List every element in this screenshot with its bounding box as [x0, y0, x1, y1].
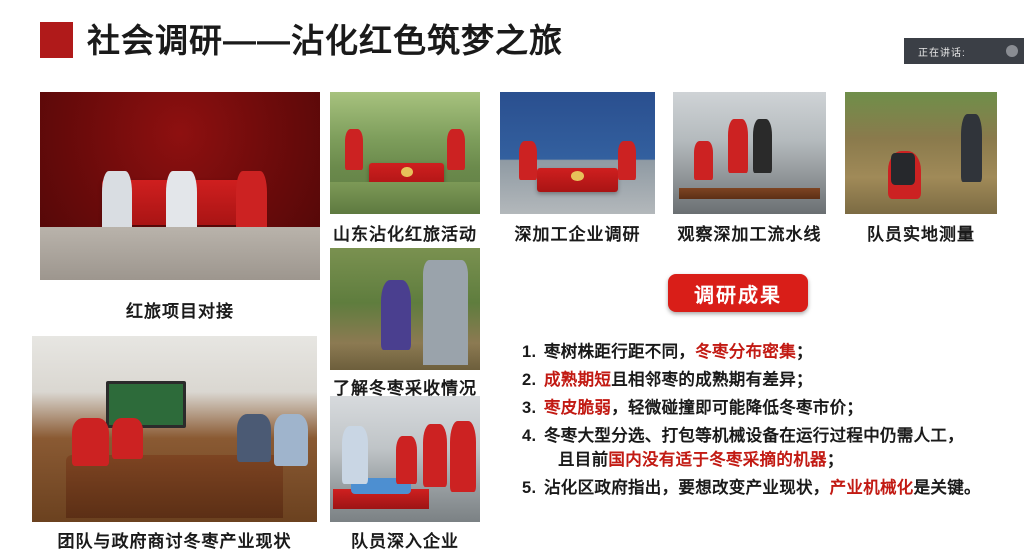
finding-number: 5.: [522, 476, 544, 500]
finding-highlight: 成熟期短: [544, 371, 611, 389]
presentation-slide: 社会调研——沾化红色筑梦之旅 正在讲话: 红旅项目对接 山东沾化红旅活动 深加工…: [0, 0, 1024, 557]
speaking-status-label: 正在讲话:: [918, 44, 966, 59]
backpack-graphic: [891, 153, 915, 185]
finding-highlight: 国内没有适于冬枣采摘的机器: [608, 451, 826, 469]
photo-caption: 团队与政府商讨冬枣产业现状: [32, 527, 317, 552]
person-figure: [447, 129, 465, 170]
photo-caption: 红旅项目对接: [40, 297, 320, 322]
finding-highlight: 产业机械化: [830, 479, 914, 497]
finding-plain: 且目前: [558, 451, 608, 469]
finding-item: 1.枣树株距行距不同，冬枣分布密集；: [522, 340, 1022, 364]
person-figure: [450, 421, 476, 492]
person-figure: [72, 418, 109, 466]
person-figure: [274, 414, 308, 466]
banner-graphic: [369, 163, 444, 190]
person-figure: [381, 280, 411, 351]
person-figure: [423, 260, 468, 365]
finding-plain: ；: [796, 343, 813, 361]
person-figure: [694, 141, 712, 180]
finding-item: 4.冬枣大型分选、打包等机械设备在运行过程中仍需人工，且目前国内没有适于冬枣采摘…: [522, 424, 1022, 472]
photo-shandong-zhanhua-activity[interactable]: [330, 92, 480, 214]
page-title: 社会调研——沾化红色筑梦之旅: [40, 22, 563, 58]
finding-number: 3.: [522, 396, 544, 420]
finding-highlight: 枣皮脆弱: [544, 399, 611, 417]
finding-text: 成熟期短且相邻枣的成熟期有差异；: [544, 368, 1022, 392]
finding-number: 4.: [522, 424, 544, 472]
finding-plain: 枣树株距行距不同，: [544, 343, 695, 361]
photo-harvest-inspection[interactable]: [330, 248, 480, 370]
finding-number: 2.: [522, 368, 544, 392]
finding-text: 冬枣大型分选、打包等机械设备在运行过程中仍需人工，且目前国内没有适于冬枣采摘的机…: [544, 424, 1022, 472]
photo-government-meeting[interactable]: [32, 336, 317, 522]
results-badge: 调研成果: [668, 274, 808, 312]
photo-caption: 队员实地测量: [841, 220, 1001, 245]
person-figure: [345, 129, 363, 170]
photo-enterprise-visit[interactable]: [330, 396, 480, 522]
finding-plain: ，轻微碰撞即可能降低冬枣市价；: [611, 399, 863, 417]
person-figure: [236, 171, 267, 269]
person-figure: [618, 141, 637, 180]
finding-line: 冬枣大型分选、打包等机械设备在运行过程中仍需人工，: [544, 427, 964, 445]
finding-number: 1.: [522, 340, 544, 364]
results-badge-label: 调研成果: [694, 279, 782, 308]
photo-caption: 队员深入企业: [326, 527, 484, 552]
photo-deep-processing-survey[interactable]: [500, 92, 655, 214]
finding-plain: 是关键。: [914, 479, 981, 497]
person-figure: [519, 141, 538, 180]
photo-caption: 观察深加工流水线: [669, 220, 830, 245]
conveyor-graphic: [679, 188, 820, 199]
finding-plain: 且相邻枣的成熟期有差异；: [611, 371, 813, 389]
finding-line: 沾化区政府指出，要想改变产业现状，产业机械化是关键。: [544, 479, 981, 497]
person-figure: [396, 436, 417, 484]
findings-list: 1.枣树株距行距不同，冬枣分布密集；2.成熟期短且相邻枣的成熟期有差异；3.枣皮…: [522, 340, 1022, 504]
speaking-status-badge[interactable]: 正在讲话:: [904, 38, 1024, 64]
finding-text: 沾化区政府指出，要想改变产业现状，产业机械化是关键。: [544, 476, 1022, 500]
photo-field-measurement[interactable]: [845, 92, 997, 214]
finding-line: 且目前国内没有适于冬枣采摘的机器；: [544, 448, 1022, 472]
photo-processing-line[interactable]: [673, 92, 826, 214]
finding-line: 成熟期短且相邻枣的成熟期有差异；: [544, 371, 813, 389]
finding-text: 枣皮脆弱，轻微碰撞即可能降低冬枣市价；: [544, 396, 1022, 420]
finding-line: 枣皮脆弱，轻微碰撞即可能降低冬枣市价；: [544, 399, 863, 417]
title-text: 社会调研——沾化红色筑梦之旅: [87, 24, 563, 57]
finding-plain: 沾化区政府指出，要想改变产业现状，: [544, 479, 830, 497]
photo-red-tourism-project[interactable]: [40, 92, 320, 280]
finding-text: 枣树株距行距不同，冬枣分布密集；: [544, 340, 1022, 364]
title-accent-square: [40, 22, 73, 58]
person-figure: [423, 424, 447, 487]
photo-caption: 山东沾化红旅活动: [326, 220, 484, 245]
finding-plain: 冬枣大型分选、打包等机械设备在运行过程中仍需人工，: [544, 427, 964, 445]
person-figure: [342, 426, 368, 484]
person-figure: [728, 119, 748, 173]
finding-plain: ；: [827, 451, 844, 469]
person-figure: [237, 414, 271, 462]
finding-item: 3.枣皮脆弱，轻微碰撞即可能降低冬枣市价；: [522, 396, 1022, 420]
person-figure: [102, 171, 133, 269]
finding-item: 2.成熟期短且相邻枣的成熟期有差异；: [522, 368, 1022, 392]
person-figure: [961, 114, 982, 182]
photo-caption: 深加工企业调研: [496, 220, 659, 245]
person-figure: [166, 171, 197, 269]
banner-graphic: [537, 168, 618, 192]
finding-item: 5.沾化区政府指出，要想改变产业现状，产业机械化是关键。: [522, 476, 1022, 500]
person-figure: [753, 119, 773, 173]
microphone-status-icon: [1006, 45, 1018, 57]
person-figure: [112, 418, 143, 459]
finding-highlight: 冬枣分布密集: [695, 343, 796, 361]
finding-line: 枣树株距行距不同，冬枣分布密集；: [544, 343, 813, 361]
